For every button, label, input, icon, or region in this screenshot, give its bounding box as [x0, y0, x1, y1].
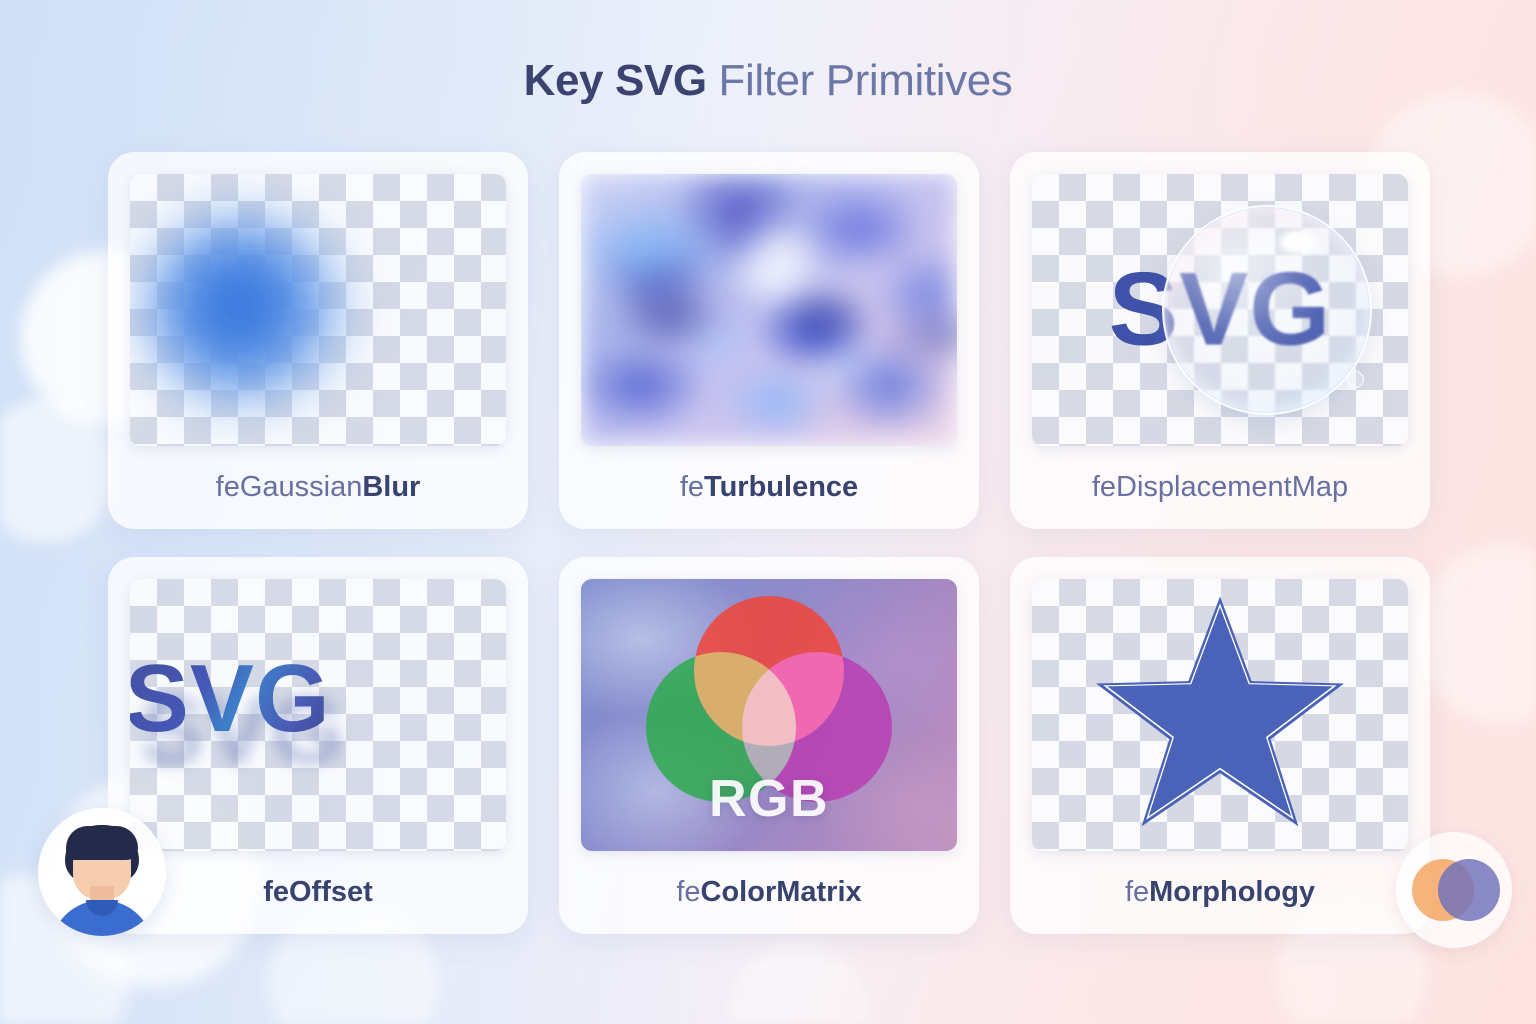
small-bubble-icon: [1347, 371, 1364, 388]
caption-suffix: Turbulence: [704, 471, 858, 504]
rgb-label: RGB: [709, 769, 829, 829]
caption-prefix: feGaussian: [216, 471, 363, 504]
caption-prefix: feDisplacementMap: [1092, 471, 1348, 504]
avatar-fringe-icon: [66, 826, 138, 860]
star-icon: [1105, 605, 1335, 825]
thumbnail-fedisplacementmap: SVG: [1032, 174, 1408, 446]
thumbnail-feturbulence: [581, 174, 957, 446]
thumbnail-feoffset: SVG SVG: [130, 579, 506, 851]
card-fecolormatrix[interactable]: RGB feColorMatrix: [559, 557, 979, 934]
caption-prefix: fe: [676, 876, 700, 909]
caption-prefix: fe: [1125, 876, 1149, 909]
caption-suffix: Morphology: [1149, 876, 1315, 909]
turbulence-highlight-overlay: [581, 174, 957, 446]
caption-femorphology: feMorphology: [1125, 851, 1315, 934]
card-fedisplacementmap[interactable]: SVG feDisplacementMap: [1010, 152, 1430, 529]
caption-feoffset: feOffset: [263, 851, 373, 934]
blurred-blob-shape: [138, 215, 348, 405]
thumbnail-femorphology: [1032, 579, 1408, 851]
caption-fecolormatrix: feColorMatrix: [676, 851, 861, 934]
thumbnail-fecolormatrix: RGB: [581, 579, 957, 851]
card-fegaussianblur[interactable]: feGaussianBlur: [108, 152, 528, 529]
svg-wordmark: SVG: [130, 644, 331, 754]
avatar[interactable]: [38, 808, 166, 936]
page-title: Key SVG Filter Primitives: [0, 56, 1536, 106]
caption-suffix: ColorMatrix: [701, 876, 862, 909]
caption-fedisplacementmap: feDisplacementMap: [1092, 446, 1348, 529]
filter-primitive-card-grid: feGaussianBlur feTurbulence SVG feDispla…: [108, 152, 1430, 934]
card-femorphology[interactable]: feMorphology: [1010, 557, 1430, 934]
thumbnail-fegaussianblur: [130, 174, 506, 446]
card-feoffset[interactable]: SVG SVG feOffset: [108, 557, 528, 934]
bubble-rim: [1162, 205, 1372, 415]
logo-circle-purple-icon: [1438, 859, 1500, 921]
caption-suffix: feOffset: [263, 876, 373, 909]
caption-feturbulence: feTurbulence: [680, 446, 858, 529]
caption-prefix: fe: [680, 471, 704, 504]
page-title-light: Filter Primitives: [707, 56, 1013, 105]
caption-fegaussianblur: feGaussianBlur: [216, 446, 421, 529]
caption-suffix: Blur: [362, 471, 420, 504]
logo-badge[interactable]: [1396, 832, 1512, 948]
card-feturbulence[interactable]: feTurbulence: [559, 152, 979, 529]
page-title-strong: Key SVG: [524, 56, 707, 105]
glass-bubble-icon: [1162, 205, 1372, 415]
